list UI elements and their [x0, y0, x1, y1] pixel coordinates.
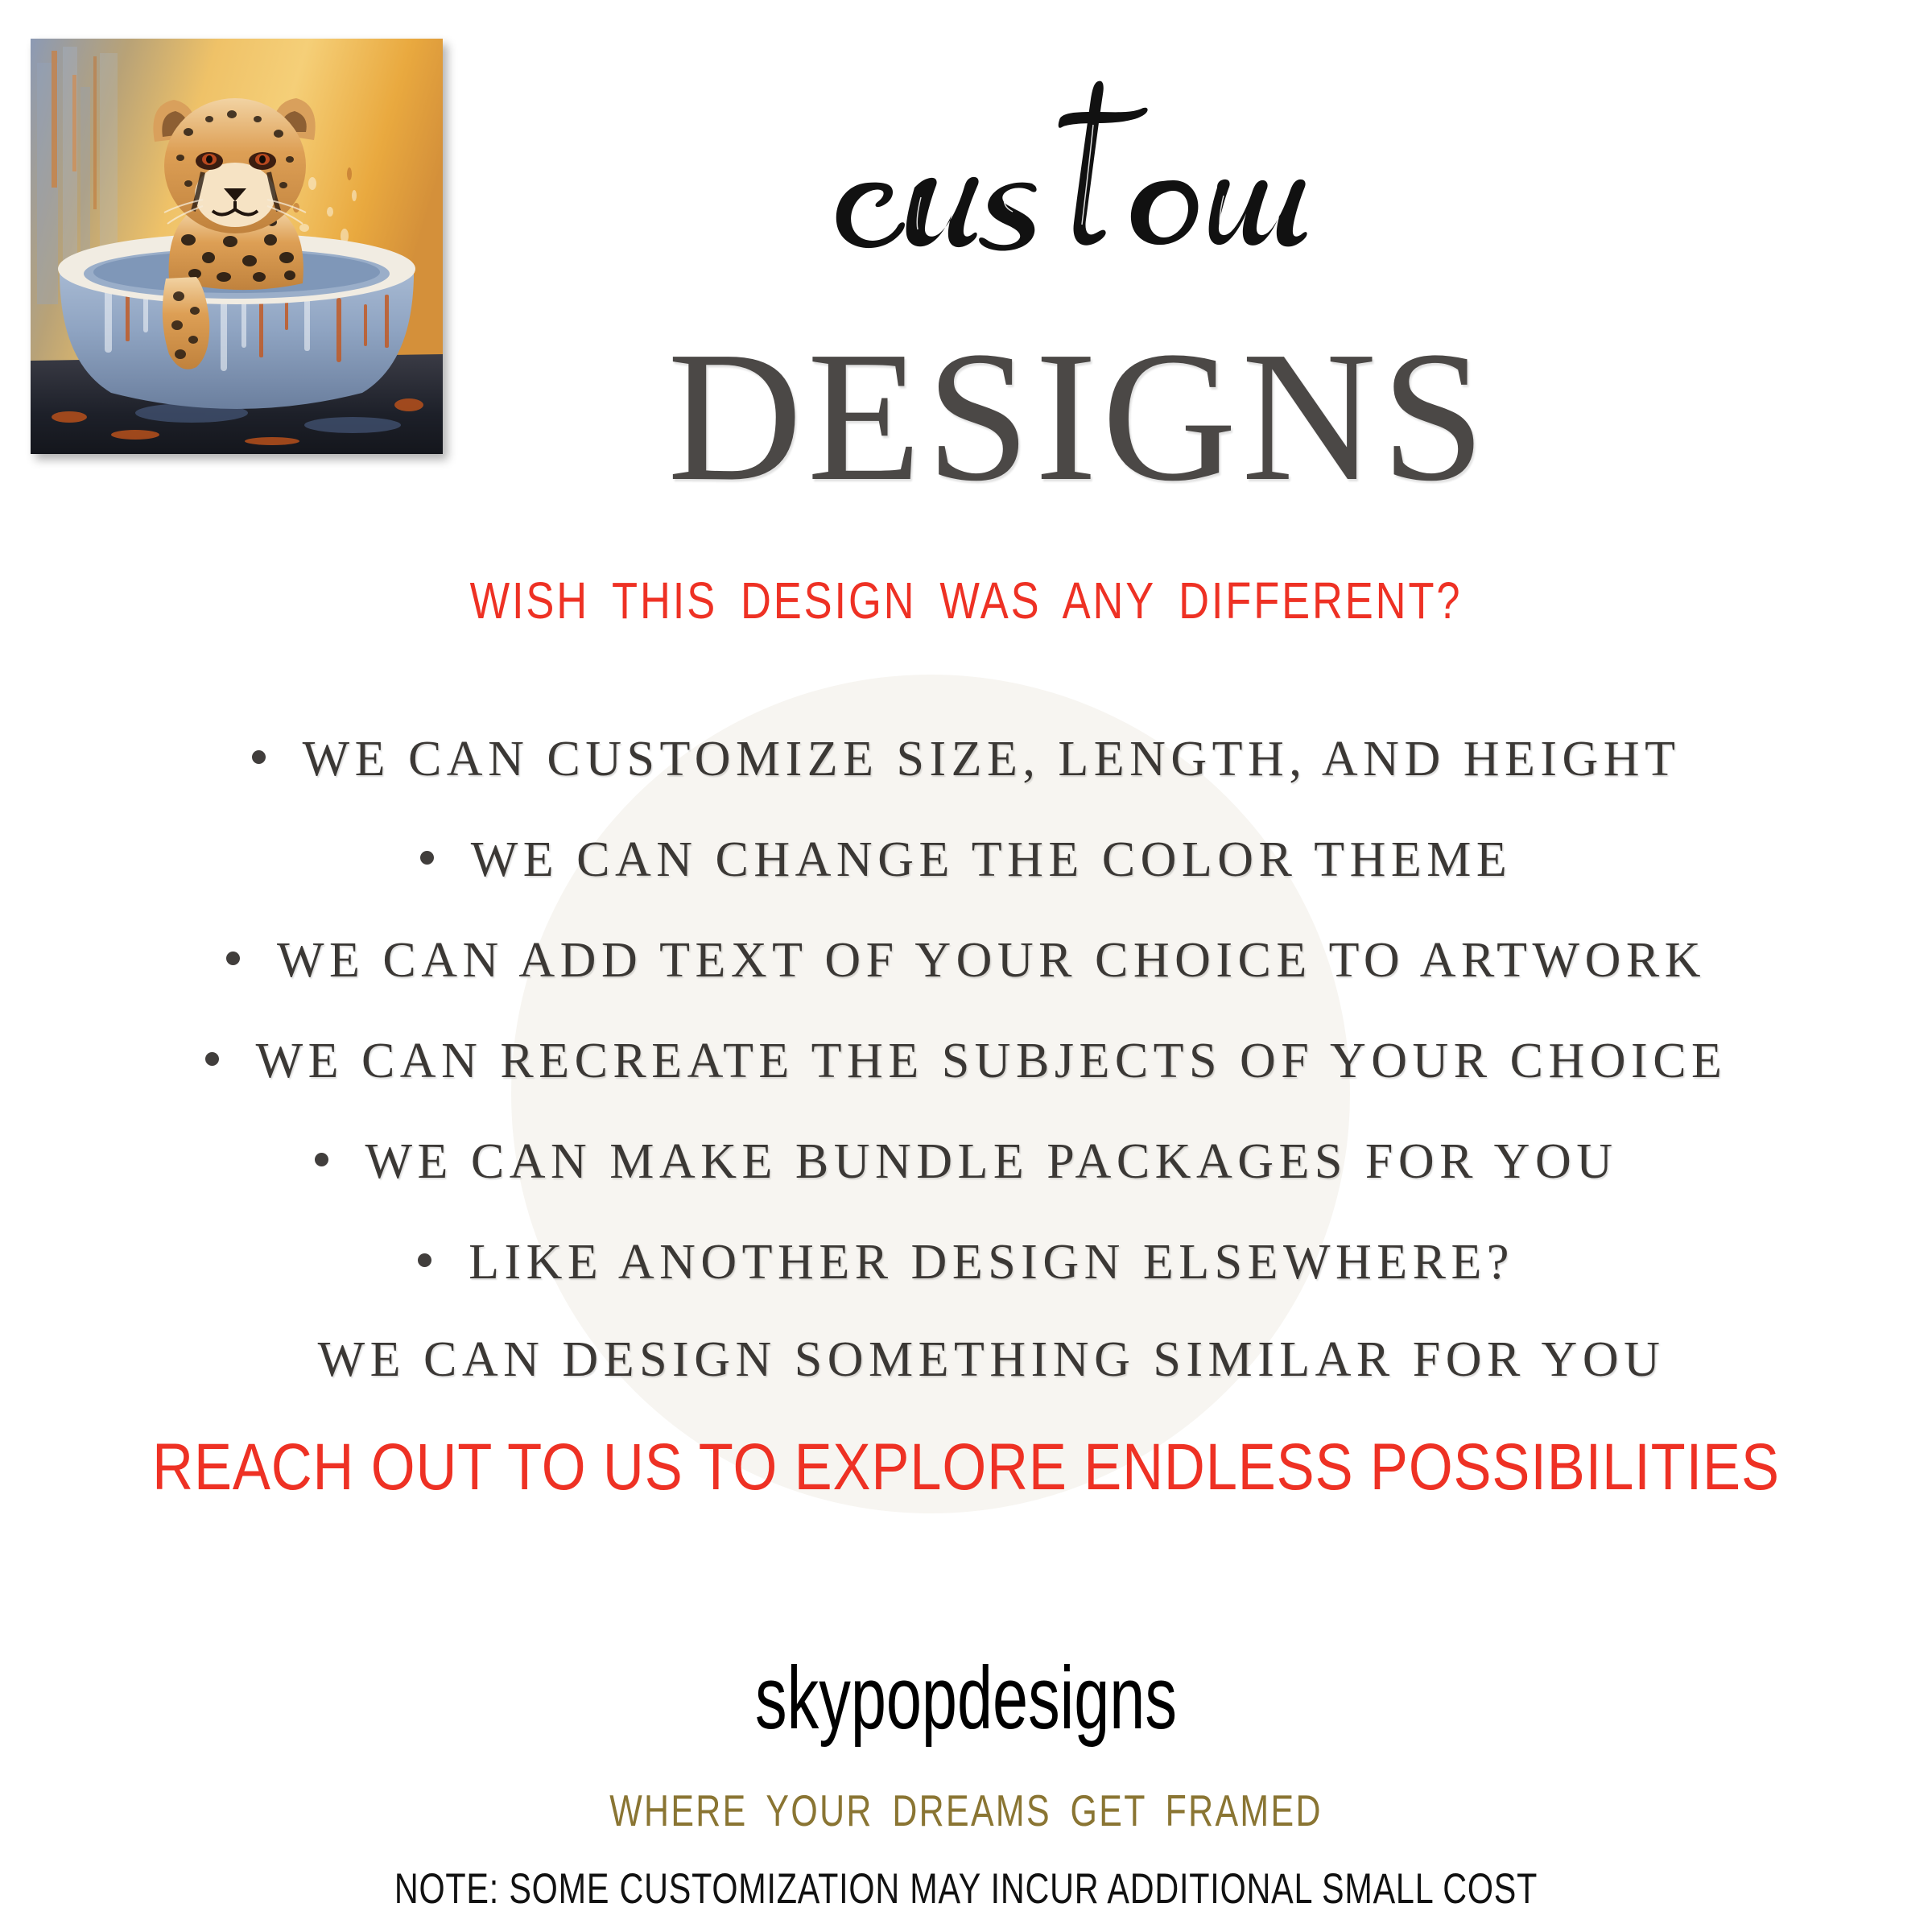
list-item: WE CAN ADD TEXT OF YOUR CHOICE TO ARTWOR…: [0, 910, 1932, 1010]
call-to-action-text: REACH OUT TO US TO EXPLORE ENDLESS POSSI…: [135, 1435, 1797, 1501]
bullet-dot-icon: [252, 750, 266, 764]
benefit-text: WE CAN CUSTOMIZE SIZE, LENGTH, AND HEIGH…: [303, 734, 1681, 784]
benefits-list: WE CAN CUSTOMIZE SIZE, LENGTH, AND HEIGH…: [0, 708, 1932, 1407]
benefit-text: WE CAN DESIGN SOMETHING SIMILAR FOR YOU: [318, 1335, 1666, 1385]
bullet-dot-icon: [205, 1052, 219, 1066]
subtitle-question: WISH THIS DESIGN WAS ANY DIFFERENT?: [174, 575, 1758, 626]
list-item: WE CAN CHANGE THE COLOR THEME: [0, 809, 1932, 910]
bullet-dot-icon: [420, 851, 434, 865]
benefit-text: LIKE ANOTHER DESIGN ELSEWHERE?: [469, 1237, 1514, 1287]
benefit-text: WE CAN CHANGE THE COLOR THEME: [471, 835, 1513, 885]
custom-script-heading: [0, 76, 1932, 266]
bullet-dot-icon: [418, 1253, 431, 1267]
list-item: WE CAN RECREATE THE SUBJECTS OF YOUR CHO…: [0, 1010, 1932, 1111]
bullet-dot-icon: [315, 1153, 328, 1166]
brand-tagline: WHERE YOUR DREAMS GET FRAMED: [213, 1789, 1719, 1833]
list-item: WE CAN CUSTOMIZE SIZE, LENGTH, AND HEIGH…: [0, 708, 1932, 809]
brand-logo-text: skypopdesigns: [270, 1654, 1662, 1743]
page-title: DESIGNS: [0, 324, 1932, 510]
benefit-text: WE CAN MAKE BUNDLE PACKAGES FOR YOU: [365, 1137, 1618, 1187]
footnote-text: NOTE: SOME CUSTOMIZATION MAY INCUR ADDIT…: [213, 1868, 1719, 1910]
list-item: LIKE ANOTHER DESIGN ELSEWHERE?: [0, 1212, 1932, 1312]
benefit-text: WE CAN ADD TEXT OF YOUR CHOICE TO ARTWOR…: [277, 935, 1706, 985]
list-item-continuation: WE CAN DESIGN SOMETHING SIMILAR FOR YOU: [0, 1312, 1932, 1407]
custom-brush-script-icon: [821, 76, 1352, 262]
list-item: WE CAN MAKE BUNDLE PACKAGES FOR YOU: [0, 1111, 1932, 1212]
bullet-dot-icon: [226, 952, 240, 965]
benefit-text: WE CAN RECREATE THE SUBJECTS OF YOUR CHO…: [256, 1036, 1728, 1086]
